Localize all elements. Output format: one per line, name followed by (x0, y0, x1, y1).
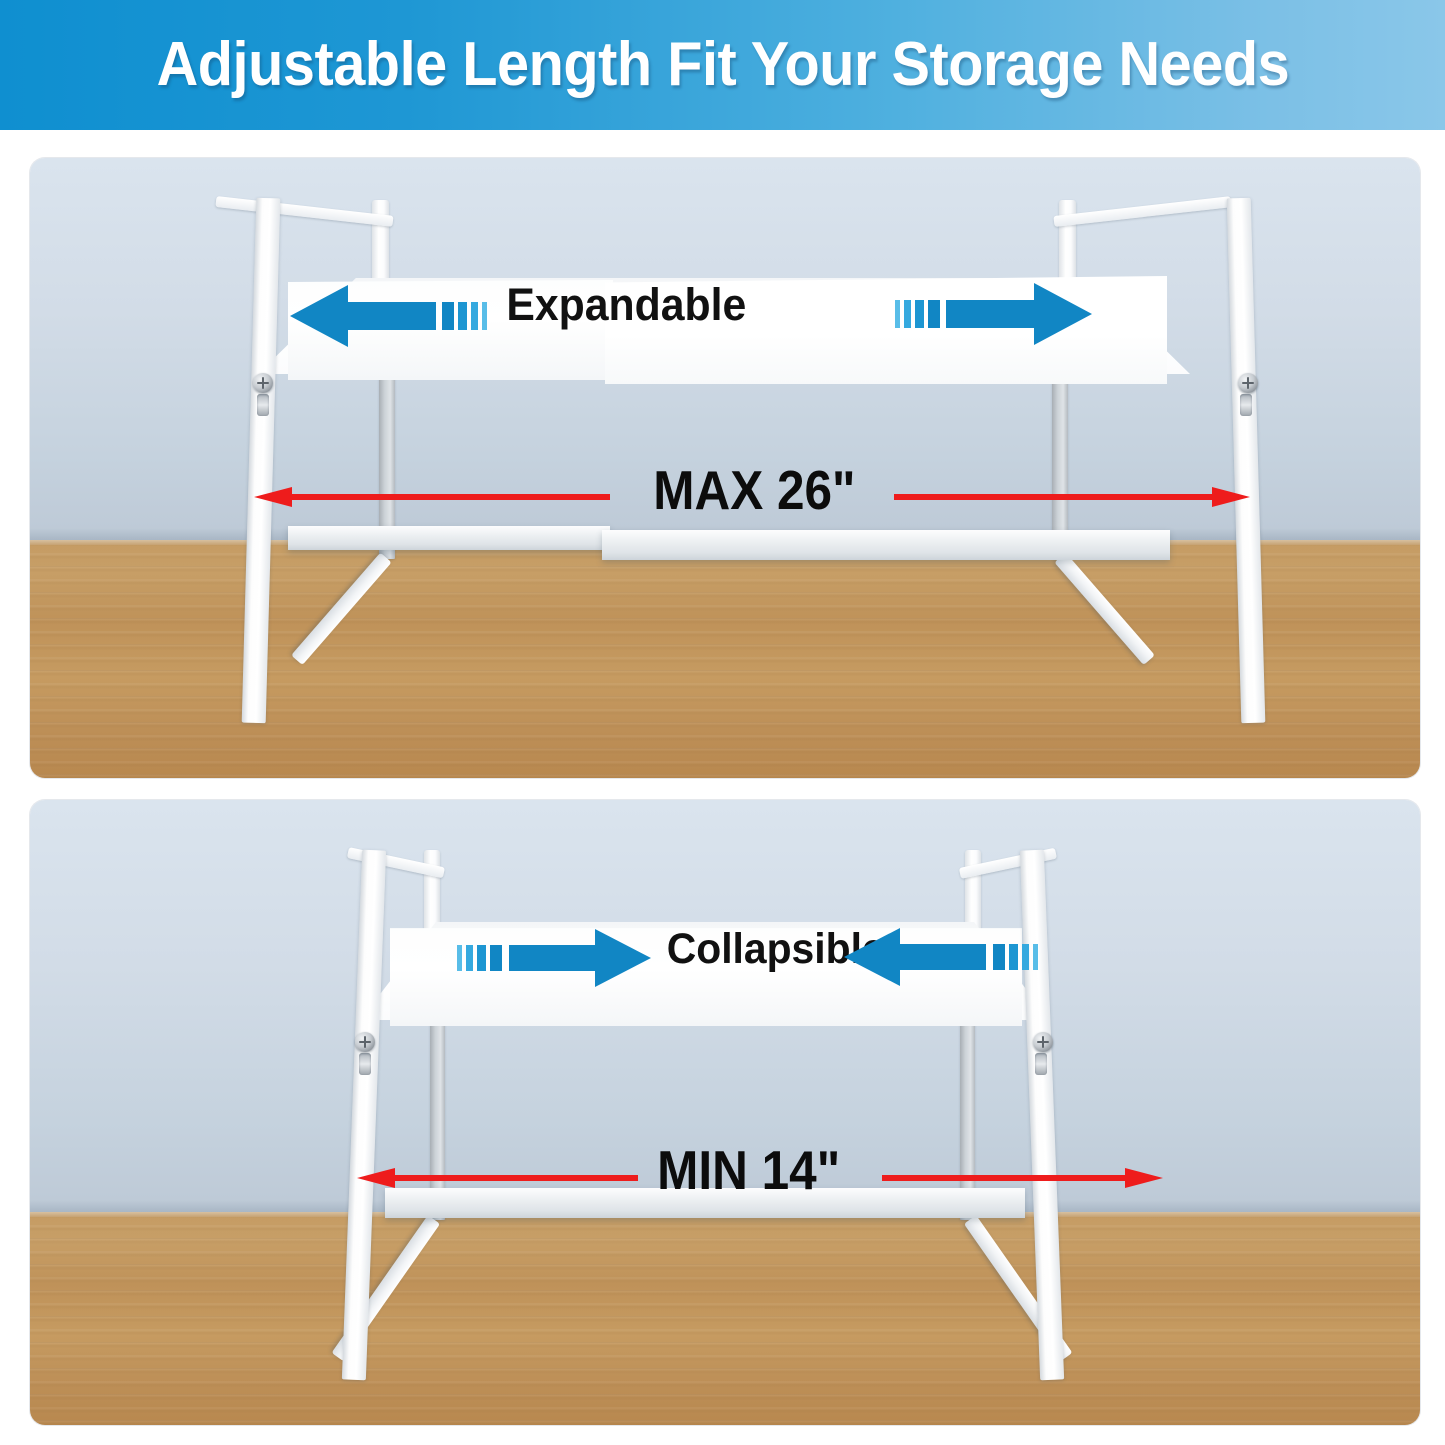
expanded-rack-panel: Expandable MAX 26" (30, 158, 1420, 778)
max-dimension-label: MAX 26" (653, 463, 855, 518)
screw-left (355, 1032, 375, 1052)
infographic-page: Adjustable Length Fit Your Storage Needs (0, 0, 1445, 1445)
max-dim-arrow-right (892, 484, 1252, 510)
min-dim-arrow-left (355, 1165, 640, 1191)
screw-right (1238, 373, 1258, 393)
collapsed-scene: Collapsible MIN 14" (30, 800, 1420, 1425)
front-leg-left (242, 198, 281, 723)
header-banner: Adjustable Length Fit Your Storage Needs (0, 0, 1445, 130)
arrow-left-icon (290, 285, 436, 347)
top-bar-right (1053, 196, 1231, 227)
motion-stripes-left (457, 945, 502, 971)
top-bar-left (215, 196, 393, 227)
collapsed-rack-panel: Collapsible MIN 14" (30, 800, 1420, 1425)
expanded-scene: Expandable MAX 26" (30, 158, 1420, 778)
double-headed-arrow-icon (894, 487, 1250, 507)
arrow-right-icon (509, 929, 651, 987)
foot-brace-right (1054, 553, 1155, 665)
page-title: Adjustable Length Fit Your Storage Needs (156, 34, 1289, 96)
max-dim-arrow-left (252, 484, 612, 510)
front-leg-right (1227, 198, 1266, 723)
expand-right-arrow-group (876, 278, 1096, 350)
motion-stripes-left (442, 302, 487, 330)
min-dim-arrow-right (880, 1165, 1165, 1191)
expand-left-arrow-group (286, 280, 506, 352)
rack-collapsed (30, 800, 1420, 1425)
motion-stripes-right (993, 944, 1038, 970)
double-headed-arrow-icon (882, 1168, 1163, 1188)
adjust-slot-right (1035, 1053, 1047, 1075)
screw-right (1033, 1032, 1053, 1052)
collapse-right-arrow-group (840, 924, 1040, 990)
shelf-front-edge-left (288, 526, 610, 550)
shelf-front-edge-right (602, 530, 1170, 560)
double-headed-arrow-icon (254, 487, 610, 507)
arrow-right-icon (946, 283, 1092, 345)
adjust-slot-left (257, 394, 269, 416)
expandable-label: Expandable (506, 282, 746, 327)
arrow-left-icon (844, 928, 986, 986)
adjust-slot-left (359, 1053, 371, 1075)
foot-brace-left (291, 553, 392, 665)
adjust-slot-right (1240, 394, 1252, 416)
screw-left (253, 373, 273, 393)
min-dimension-label: MIN 14" (657, 1143, 840, 1198)
collapse-left-arrow-group (455, 925, 655, 991)
motion-stripes-right (895, 300, 940, 328)
double-headed-arrow-icon (357, 1168, 638, 1188)
